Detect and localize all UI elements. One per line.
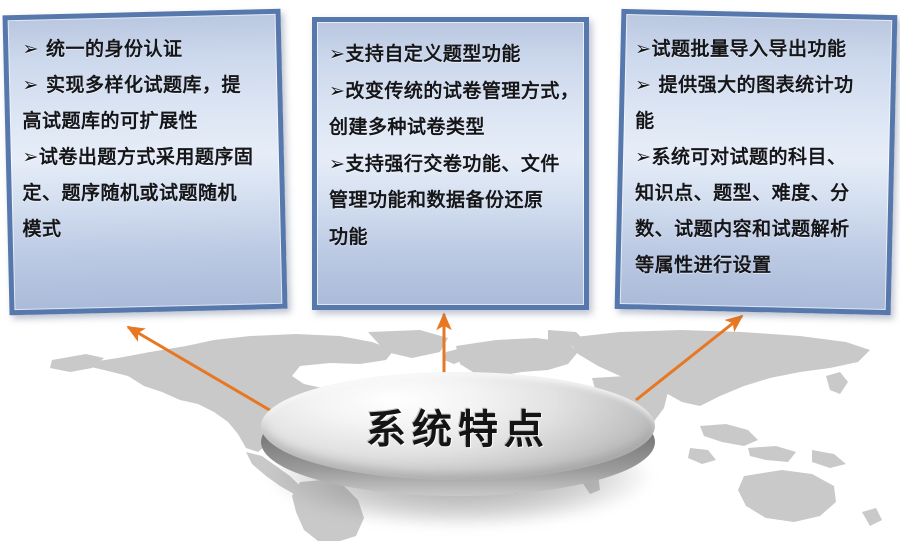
feature-panel-3[interactable]: ➢试题批量导入导出功能 ➢ 提供强大的图表统计功 能 ➢系统可对试题的科目、 知… [615,9,898,315]
feature-panel-1-content: ➢ 统一的身份认证 ➢ 实现多样化试题库，提 高试题库的可扩展性 ➢试卷出题方式… [22,31,268,247]
feature-line: ➢支持自定义题型功能 [329,36,574,73]
feature-line: ➢支持强行交卷功能、文件 [329,146,574,183]
feature-line: 模式 [22,211,268,247]
feature-line: 知识点、题型、难度、分 [635,175,879,211]
center-node-label: 系统特点 [253,372,663,480]
feature-line: 创建多种试卷类型 [329,109,574,146]
feature-line: ➢试题批量导入导出功能 [635,31,879,67]
feature-line: 定、题序随机或试题随机 [22,175,268,211]
feature-line: ➢改变传统的试卷管理方式， [329,73,574,110]
feature-panel-3-content: ➢试题批量导入导出功能 ➢ 提供强大的图表统计功 能 ➢系统可对试题的科目、 知… [635,31,879,283]
feature-line: ➢系统可对试题的科目、 [635,139,879,175]
feature-line: 高试题库的可扩展性 [22,103,268,139]
feature-line: 管理功能和数据备份还原 [329,182,574,219]
feature-line: 能 [635,103,879,139]
feature-line: ➢ 提供强大的图表统计功 [635,67,879,103]
feature-line: 数、试题内容和试题解析 [635,211,879,247]
feature-panel-1[interactable]: ➢ 统一的身份认证 ➢ 实现多样化试题库，提 高试题库的可扩展性 ➢试卷出题方式… [3,9,288,315]
feature-panel-2-content: ➢支持自定义题型功能 ➢改变传统的试卷管理方式， 创建多种试卷类型 ➢支持强行交… [329,36,574,255]
center-node[interactable]: 系统特点 [253,368,663,528]
feature-line: 等属性进行设置 [635,247,879,283]
feature-line: ➢试卷出题方式采用题序固 [22,139,268,175]
feature-line: ➢ 实现多样化试题库，提 [22,67,268,103]
feature-panel-2[interactable]: ➢支持自定义题型功能 ➢改变传统的试卷管理方式， 创建多种试卷类型 ➢支持强行交… [312,17,589,310]
feature-line: ➢ 统一的身份认证 [22,31,268,67]
diagram-canvas: 系统特点 ➢ 统一的身份认证 ➢ 实现多样化试题库，提 高试题库的可扩展性 ➢试… [0,0,900,541]
feature-line: 功能 [329,219,574,256]
